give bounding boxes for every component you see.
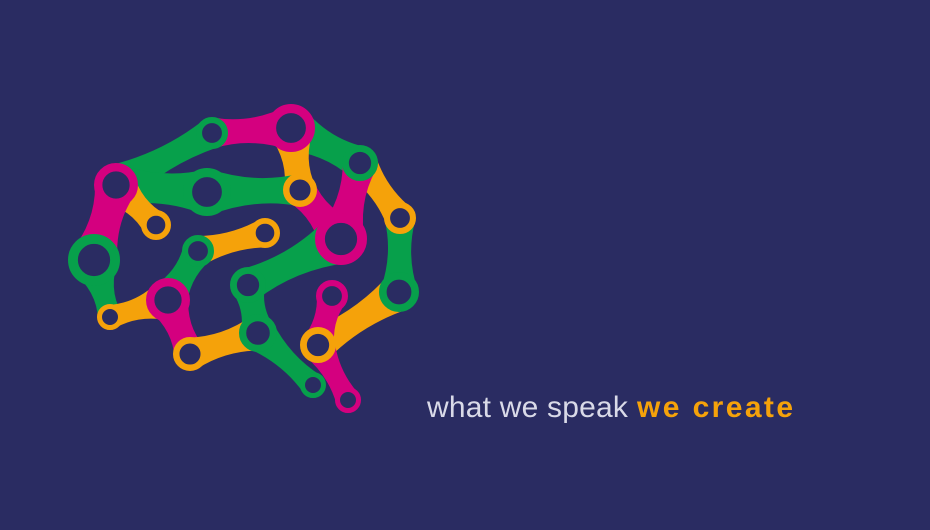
screenshot-canvas: what we speakwe create — [0, 0, 930, 530]
logo-node — [303, 375, 324, 396]
logo-node — [303, 330, 332, 359]
logo-node — [253, 221, 277, 245]
logo-node — [144, 213, 168, 237]
logo-node — [150, 282, 186, 318]
logo-node — [383, 276, 415, 308]
logo-node — [345, 148, 374, 177]
logo-node — [176, 340, 204, 368]
logo-node — [199, 120, 225, 146]
logo-node — [272, 109, 311, 148]
brain-network-svg — [55, 90, 450, 435]
logo-node — [188, 173, 227, 212]
tagline-light-text: what we speak — [427, 391, 628, 424]
logo-node — [243, 318, 274, 349]
brain-network-logo — [55, 90, 450, 435]
logo-node — [233, 270, 262, 299]
logo-node — [185, 238, 211, 264]
logo-node — [319, 283, 345, 309]
logo-node — [98, 167, 134, 203]
logo-node — [320, 218, 362, 260]
tagline-strong-text: we create — [637, 391, 795, 424]
logo-node — [100, 307, 121, 328]
logo-node — [387, 205, 413, 231]
logo-node — [338, 390, 359, 411]
logo-nodes-group — [73, 109, 415, 411]
logo-node — [286, 176, 314, 204]
tagline: what we speakwe create — [427, 390, 795, 426]
logo-node — [73, 239, 115, 281]
